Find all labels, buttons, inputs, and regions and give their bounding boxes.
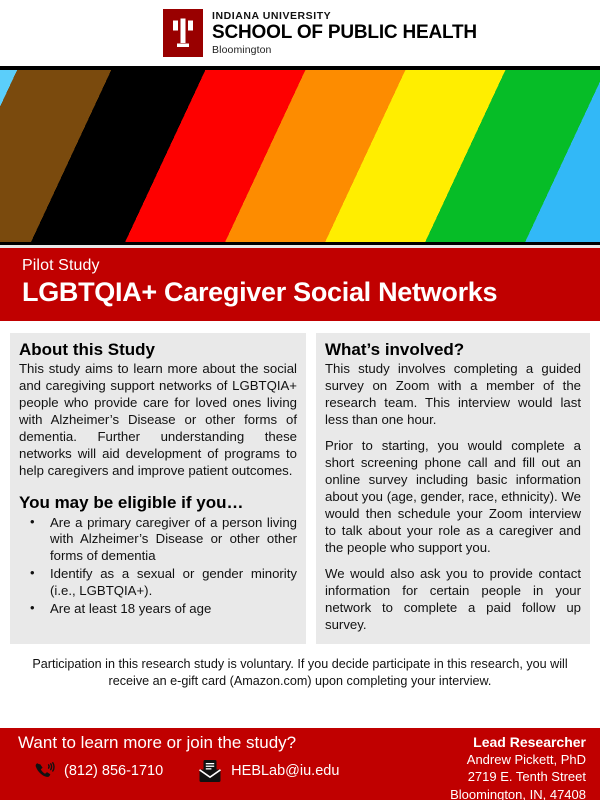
list-item: Identify as a sexual or gender minority …: [19, 566, 297, 600]
lead-researcher-block: Lead Researcher Andrew Pickett, PhD 2719…: [450, 728, 600, 803]
list-item: Are at least 18 years of age: [19, 601, 297, 618]
page-header: INDIANA UNIVERSITY SCHOOL OF PUBLIC HEAL…: [0, 0, 600, 66]
page-title: LGBTQIA+ Caregiver Social Networks: [22, 277, 600, 309]
involvement-heading: What’s involved?: [325, 340, 581, 360]
envelope-mail-icon: [197, 758, 223, 784]
iu-logo-lockup: INDIANA UNIVERSITY SCHOOL OF PUBLIC HEAL…: [163, 9, 477, 57]
flag-top-rule: [0, 66, 600, 70]
progress-pride-flag-banner: [0, 66, 600, 245]
study-type-eyebrow: Pilot Study: [22, 256, 600, 275]
email-contact[interactable]: HEBLab@iu.edu: [197, 758, 339, 784]
contact-row: (812) 856-1710 HEBLab@iu.edu: [18, 758, 450, 784]
lead-researcher-city: Bloomington, IN, 47408: [450, 786, 586, 803]
eligibility-list: Are a primary caregiver of a person livi…: [19, 515, 297, 619]
institution-name: INDIANA UNIVERSITY: [212, 11, 477, 22]
voluntary-participation-statement: Participation in this research study is …: [0, 644, 600, 700]
footer-contact-block: Want to learn more or join the study? (8…: [0, 728, 450, 784]
lead-researcher-street: 2719 E. Tenth Street: [450, 768, 586, 785]
campus-name: Bloomington: [212, 45, 477, 56]
list-item: Are a primary caregiver of a person livi…: [19, 515, 297, 566]
contact-footer: Want to learn more or join the study? (8…: [0, 728, 600, 800]
involvement-panel: What’s involved? This study involves com…: [316, 333, 590, 644]
iu-trident-icon: [163, 9, 203, 57]
about-body: This study aims to learn more about the …: [19, 361, 297, 480]
footer-call-to-action: Want to learn more or join the study?: [18, 732, 450, 753]
eligibility-heading: You may be eligible if you…: [19, 493, 297, 513]
iu-logo-text: INDIANA UNIVERSITY SCHOOL OF PUBLIC HEAL…: [212, 11, 477, 56]
phone-contact[interactable]: (812) 856-1710: [32, 759, 163, 783]
school-name: SCHOOL OF PUBLIC HEALTH: [212, 23, 477, 42]
content-columns: About this Study This study aims to lear…: [0, 321, 600, 644]
lead-researcher-title: Lead Researcher: [450, 733, 586, 751]
about-heading: About this Study: [19, 340, 297, 360]
lead-researcher-name: Andrew Pickett, PhD: [450, 751, 586, 768]
involvement-paragraph: Prior to starting, you would complete a …: [325, 438, 581, 557]
about-panel: About this Study This study aims to lear…: [10, 333, 306, 644]
pride-flag-stripes: [0, 66, 600, 245]
email-address: HEBLab@iu.edu: [231, 764, 339, 779]
involvement-paragraph: We would also ask you to provide contact…: [325, 566, 581, 634]
title-banner: Pilot Study LGBTQIA+ Caregiver Social Ne…: [0, 248, 600, 321]
ringing-phone-icon: [32, 759, 56, 783]
flag-bottom-rule: [0, 242, 600, 245]
phone-number: (812) 856-1710: [64, 764, 163, 779]
involvement-paragraph: This study involves completing a guided …: [325, 361, 581, 429]
